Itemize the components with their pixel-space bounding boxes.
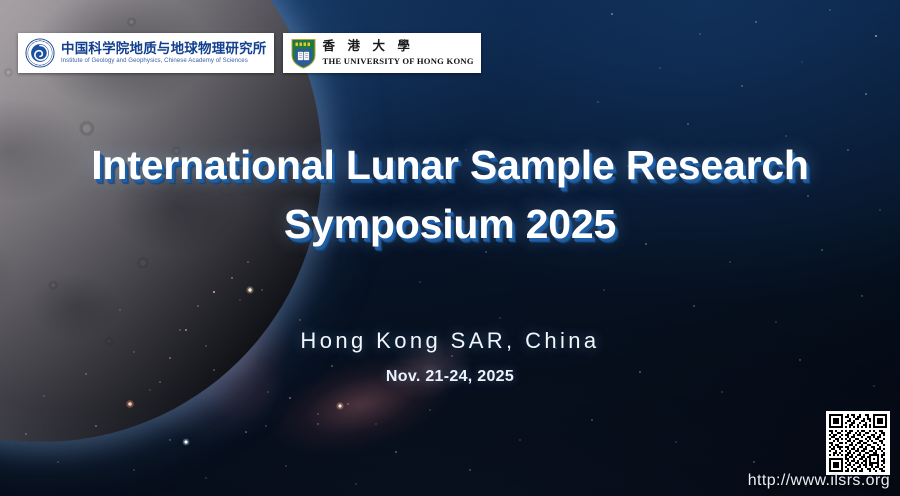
event-dates: Nov. 21-24, 2025 bbox=[0, 368, 900, 386]
igg-logo: 中国科学院地质与地球物理研究所 Institute of Geology and… bbox=[18, 33, 274, 73]
page-title: International Lunar Sample Research Symp… bbox=[0, 136, 900, 254]
title-line-2: Symposium 2025 bbox=[0, 195, 900, 254]
hku-shield-crest-icon bbox=[290, 38, 317, 69]
igg-name-cn: 中国科学院地质与地球物理研究所 bbox=[61, 41, 267, 56]
hku-logo: 香 港 大 學 THE UNIVERSITY OF HONG KONG bbox=[283, 33, 481, 73]
hku-name-cn: 香 港 大 學 bbox=[323, 40, 474, 54]
igg-logo-text: 中国科学院地质与地球物理研究所 Institute of Geology and… bbox=[61, 41, 267, 64]
igg-name-en: Institute of Geology and Geophysics, Chi… bbox=[61, 57, 267, 64]
igg-spiral-emblem-icon bbox=[25, 38, 55, 68]
poster-canvas: 中国科学院地质与地球物理研究所 Institute of Geology and… bbox=[0, 0, 900, 496]
logo-bar: 中国科学院地质与地球物理研究所 Institute of Geology and… bbox=[18, 33, 481, 73]
title-line-1: International Lunar Sample Research bbox=[0, 136, 900, 195]
hku-name-en: THE UNIVERSITY OF HONG KONG bbox=[323, 56, 474, 66]
website-url[interactable]: http://www.ilsrs.org bbox=[748, 472, 890, 490]
qr-code-icon[interactable] bbox=[826, 411, 890, 475]
event-location: Hong Kong SAR, China bbox=[0, 328, 900, 354]
hku-logo-text: 香 港 大 學 THE UNIVERSITY OF HONG KONG bbox=[323, 40, 474, 66]
